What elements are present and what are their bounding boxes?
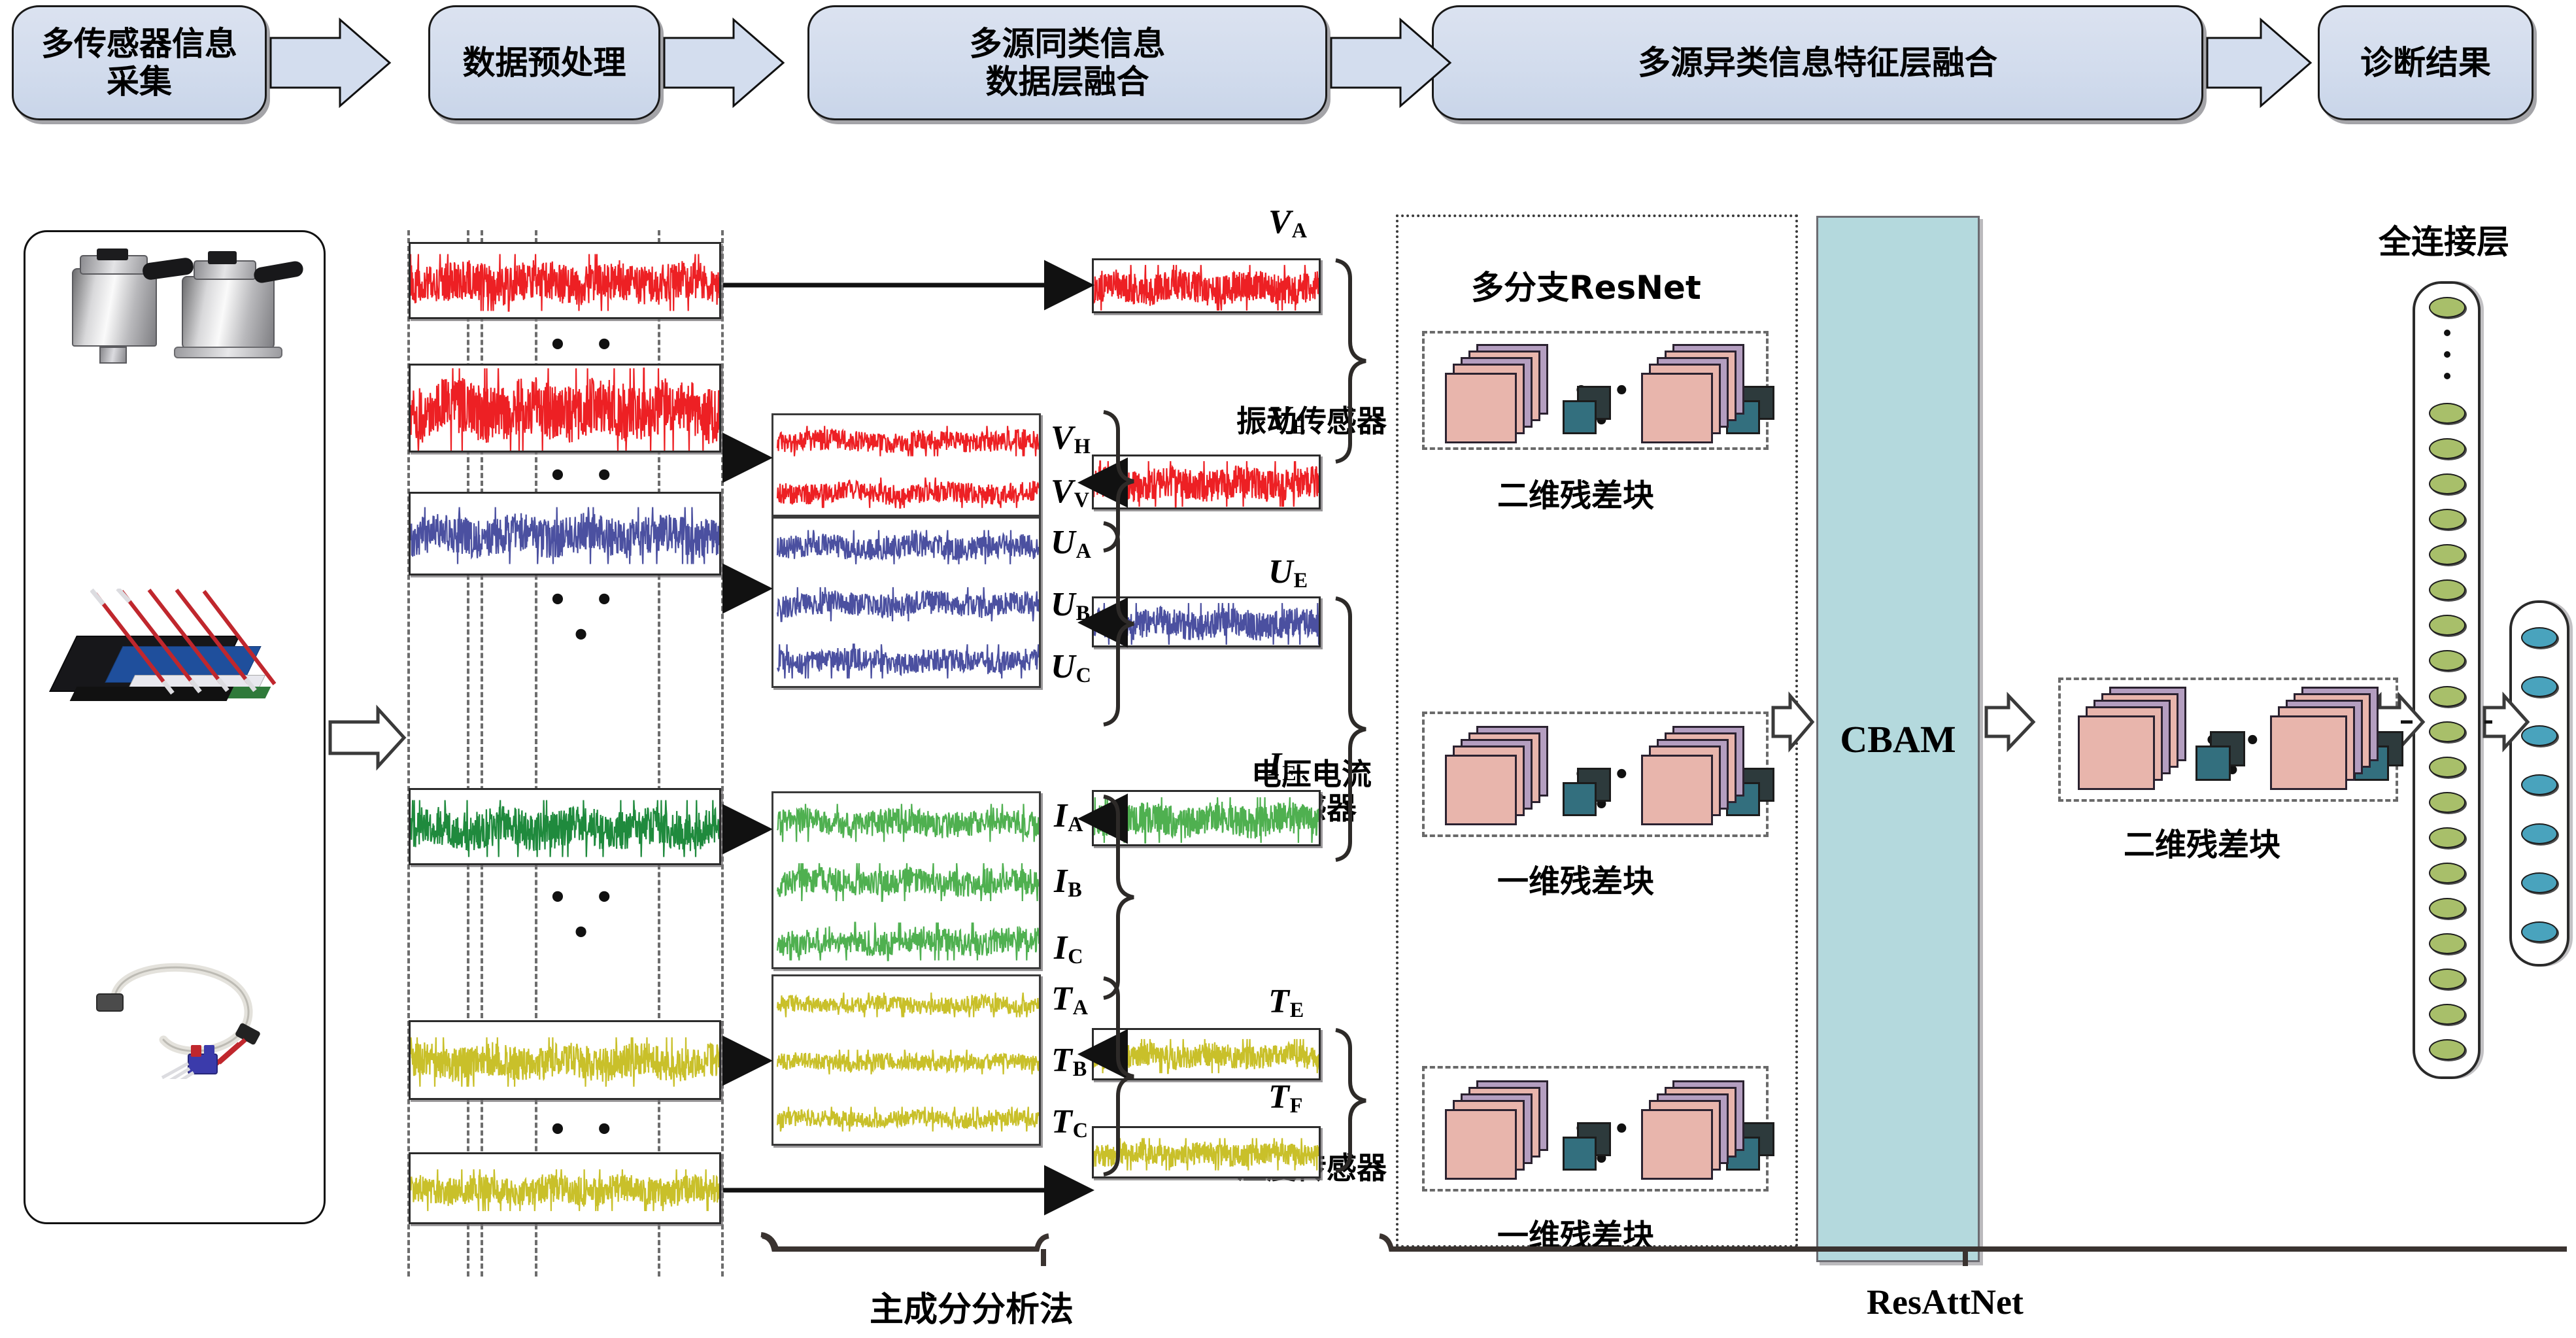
cube-front-face (1563, 400, 1597, 434)
pipeline-step-4-label: 多源异类信息特征层融合 (1638, 44, 1997, 82)
fc-output-neuron (2521, 872, 2558, 893)
raw-signal-vibration-1 (409, 242, 721, 319)
pipeline-step-2[interactable]: 数据预处理 (428, 5, 660, 120)
fc-output-neuron (2521, 774, 2558, 795)
raw-signal-temperature-n (409, 1152, 721, 1224)
voltage-current-sensor-photo (51, 589, 298, 739)
pipeline-step-4[interactable]: 多源异类信息特征层融合 (1432, 5, 2203, 120)
fc-hidden-neuron (2429, 686, 2466, 707)
fc-hidden-neuron (2429, 757, 2466, 778)
raw-signal-vibration-n (409, 364, 721, 453)
fc-hidden-neuron (2429, 473, 2466, 494)
fused-box-TE (1092, 1028, 1321, 1080)
fc-hidden-neuron (2429, 933, 2466, 954)
fused-label-UE: UE (1268, 553, 1308, 592)
pipeline-step-1[interactable]: 多传感器信息 采集 (12, 5, 267, 120)
pca-label-IA: IA (1054, 797, 1083, 836)
fused-box-IE (1092, 790, 1321, 846)
fc-hidden-ellipsis (2444, 330, 2450, 379)
pca-caption: 主成分分析法 (870, 1282, 1074, 1331)
branch-2d-top-plane-stack-1 (1445, 344, 1551, 449)
fc-hidden-neuron (2429, 721, 2466, 742)
post-block-plane-stack-1 (2078, 687, 2189, 795)
pca-label-TB: TB (1051, 1041, 1087, 1081)
post-block-cube-1 (2195, 731, 2246, 782)
cube-front-face (1563, 782, 1597, 816)
pca-label-TA: TA (1051, 980, 1088, 1020)
pca-label-VV: VV (1051, 472, 1089, 512)
feature-map-plane (1641, 373, 1713, 443)
fused-label-VA: VA (1268, 203, 1307, 243)
pca-label-TC: TC (1051, 1103, 1088, 1142)
pca-label-IC: IC (1054, 929, 1083, 969)
fc-hidden-neuron (2429, 1039, 2466, 1060)
temperature-sensor-photo (85, 929, 275, 1079)
pca-box-current (771, 791, 1041, 969)
residual-block-2d-top-label: 二维残差块 (1497, 470, 1654, 515)
fc-output-neuron (2521, 921, 2558, 942)
pca-box-voltage (771, 517, 1041, 688)
residual-block-2d-post-label: 二维残差块 (2124, 819, 2280, 865)
branch-1d-bottom-cube-1 (1563, 1122, 1612, 1172)
branch-2d-top-cube-1 (1563, 386, 1612, 436)
feature-map-plane (1445, 373, 1517, 443)
fc-hidden-neuron (2429, 1004, 2466, 1025)
pipeline-step-3-label: 多源同类信息 数据层融合 (970, 25, 1166, 101)
fc-title: 全连接层 (2379, 216, 2509, 263)
fc-output-neuron (2521, 823, 2558, 844)
fc-output-neuron (2521, 676, 2558, 697)
fc-hidden-neuron (2429, 792, 2466, 813)
fc-hidden-neuron (2429, 297, 2466, 318)
cube-front-face (2195, 746, 2231, 781)
fc-hidden-neuron (2429, 863, 2466, 883)
pipeline-step-5-label: 诊断结果 (2360, 44, 2491, 82)
fc-output-neuron (2521, 627, 2558, 648)
resattnet-caption: ResAttNet (1867, 1282, 2024, 1322)
pipeline-step-2-label: 数据预处理 (463, 44, 626, 82)
residual-block-1d-bottom-label: 一维残差块 (1497, 1210, 1654, 1256)
raw-signal-temperature-1 (409, 1020, 721, 1100)
pca-label-UA: UA (1051, 523, 1091, 563)
fc-hidden-neuron (2429, 403, 2466, 424)
pipeline-step-5[interactable]: 诊断结果 (2318, 5, 2534, 120)
feature-map-plane (1641, 755, 1713, 825)
fused-box-UE (1092, 596, 1321, 647)
fused-box-VE (1092, 455, 1321, 509)
pca-label-IB: IB (1054, 862, 1082, 902)
cbam-module[interactable]: CBAM (1816, 216, 1980, 1262)
branch-1d-bottom-plane-stack-1 (1445, 1080, 1551, 1185)
branch-1d-mid-cube-1 (1563, 768, 1612, 817)
pca-label-UB: UB (1051, 585, 1090, 625)
fused-label-IE: IE (1268, 746, 1296, 785)
fc-hidden-neuron (2429, 898, 2466, 919)
raw-ellipsis-4: • • • (526, 880, 644, 950)
fc-hidden-neuron (2429, 827, 2466, 848)
fused-label-TE: TE (1268, 982, 1304, 1022)
fc-hidden-neuron (2429, 969, 2466, 989)
fused-box-TF (1092, 1126, 1321, 1178)
pca-label-UC: UC (1051, 647, 1091, 687)
raw-signal-voltage (409, 492, 721, 575)
pipeline-step-1-label: 多传感器信息 采集 (41, 25, 237, 101)
resnet-title: 多分支ResNet (1471, 262, 1701, 309)
vibration-sensor-photo (65, 249, 288, 379)
feature-map-plane (1641, 1109, 1713, 1180)
cbam-label: CBAM (1840, 717, 1956, 761)
fused-box-VA (1092, 258, 1321, 313)
branch-1d-mid-plane-stack-1 (1445, 726, 1551, 831)
pca-box-temperature (771, 974, 1041, 1146)
fc-hidden-neuron (2429, 438, 2466, 459)
raw-ellipsis-3: • • • (526, 582, 644, 653)
pipeline-step-3[interactable]: 多源同类信息 数据层融合 (807, 5, 1327, 120)
raw-signal-current (409, 788, 721, 865)
fc-output-neuron (2521, 725, 2558, 746)
feature-map-plane (1445, 755, 1517, 825)
feature-map-plane (2270, 715, 2347, 790)
residual-block-1d-mid-label: 一维残差块 (1497, 855, 1654, 901)
fused-label-TF: TF (1268, 1078, 1302, 1118)
pca-label-VH: VH (1051, 419, 1091, 458)
cube-front-face (1563, 1137, 1597, 1171)
feature-map-plane (1445, 1109, 1517, 1180)
fc-hidden-layer (2413, 281, 2481, 1079)
pca-box-vibration (771, 413, 1041, 517)
feature-map-plane (2078, 715, 2155, 790)
fused-label-VE: VE (1268, 399, 1306, 439)
segment-divider-6 (721, 230, 724, 1277)
